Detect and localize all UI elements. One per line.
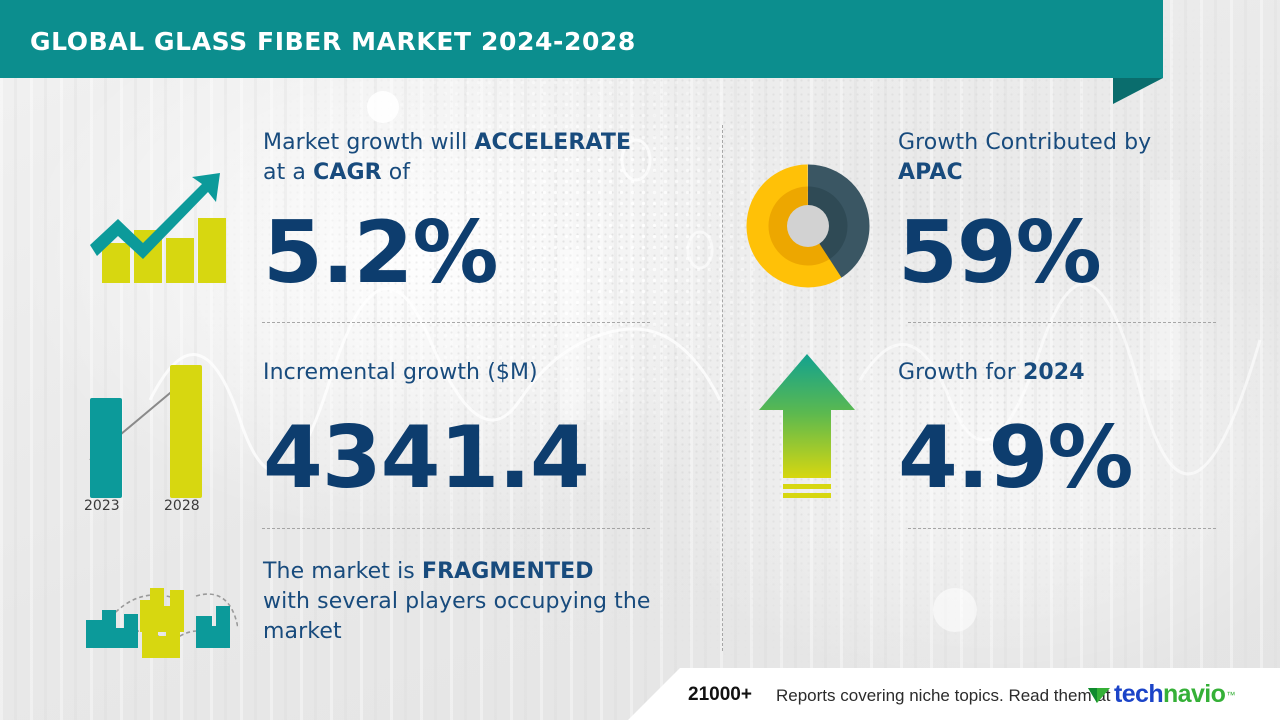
- fragmentation-line2: with several players occupying the: [263, 589, 651, 614]
- fragmentation-line1-bold: FRAGMENTED: [422, 559, 594, 584]
- cagr-line1-plain: Market growth will: [263, 130, 474, 155]
- header-fold-corner: [1113, 78, 1163, 104]
- technavio-logo[interactable]: technavio™: [1086, 680, 1235, 709]
- cagr-line2-bold: CAGR: [313, 160, 382, 185]
- left-divider-1: [262, 322, 650, 323]
- footer-tagline: Reports covering niche topics. Read them…: [776, 686, 1111, 706]
- apac-value: 59%: [898, 210, 1101, 296]
- growth-2024-value: 4.9%: [898, 415, 1133, 501]
- bar-label-2023: 2023: [84, 498, 120, 514]
- fragmentation-line3: market: [263, 619, 342, 644]
- footer-bar: 21000+ Reports covering niche topics. Re…: [628, 668, 1280, 720]
- donut-chart-icon: [745, 163, 871, 289]
- cagr-value: 5.2%: [263, 210, 498, 296]
- column-divider: [722, 125, 723, 651]
- right-divider-2: [908, 528, 1216, 529]
- left-divider-2: [262, 528, 650, 529]
- incremental-growth-label: Incremental growth ($M): [263, 358, 538, 388]
- logo-text-navio: navio: [1163, 680, 1225, 709]
- city-buildings-network-icon: [78, 558, 238, 663]
- incremental-growth-value: 4341.4: [263, 415, 589, 501]
- cagr-line2-plain-a: at a: [263, 160, 313, 185]
- apac-text-block: Growth Contributed by APAC: [898, 128, 1228, 188]
- cagr-headline: Market growth will ACCELERATE at a CAGR …: [263, 128, 663, 188]
- logo-trademark: ™: [1226, 690, 1235, 700]
- header-banner: GLOBAL GLASS FIBER MARKET 2024-2028: [0, 0, 1163, 78]
- fragmentation-text: The market is FRAGMENTED with several pl…: [263, 557, 683, 647]
- growth-2024-label-block: Growth for 2024: [898, 358, 1228, 388]
- apac-headline: Growth Contributed by APAC: [898, 128, 1228, 188]
- up-arrow-gradient-icon: [755, 348, 875, 508]
- fragmentation-line1-plain: The market is: [263, 559, 422, 584]
- growth-2024-label-plain: Growth for: [898, 360, 1023, 385]
- technavio-triangle-icon: [1086, 683, 1112, 707]
- right-divider-1: [908, 322, 1216, 323]
- logo-text-tech: tech: [1114, 680, 1163, 709]
- page-title: GLOBAL GLASS FIBER MARKET 2024-2028: [30, 27, 636, 56]
- growth-arrow-bars-icon: [70, 140, 230, 290]
- fragmentation-text-block: The market is FRAGMENTED with several pl…: [263, 557, 683, 647]
- cagr-line1-bold: ACCELERATE: [474, 130, 631, 155]
- apac-line1: Growth Contributed by: [898, 130, 1151, 155]
- bar-label-2028: 2028: [164, 498, 200, 514]
- infographic-root: GLOBAL GLASS FIBER MARKET 2024-2028 Mark…: [0, 0, 1280, 720]
- growth-2024-label-bold: 2024: [1023, 360, 1085, 385]
- apac-line2-bold: APAC: [898, 160, 963, 185]
- cagr-text-block: Market growth will ACCELERATE at a CAGR …: [263, 128, 663, 188]
- cagr-line2-plain-b: of: [382, 160, 411, 185]
- two-bar-comparison-icon: [70, 330, 230, 500]
- reports-count: 21000+: [688, 684, 752, 706]
- growth-2024-label: Growth for 2024: [898, 358, 1228, 388]
